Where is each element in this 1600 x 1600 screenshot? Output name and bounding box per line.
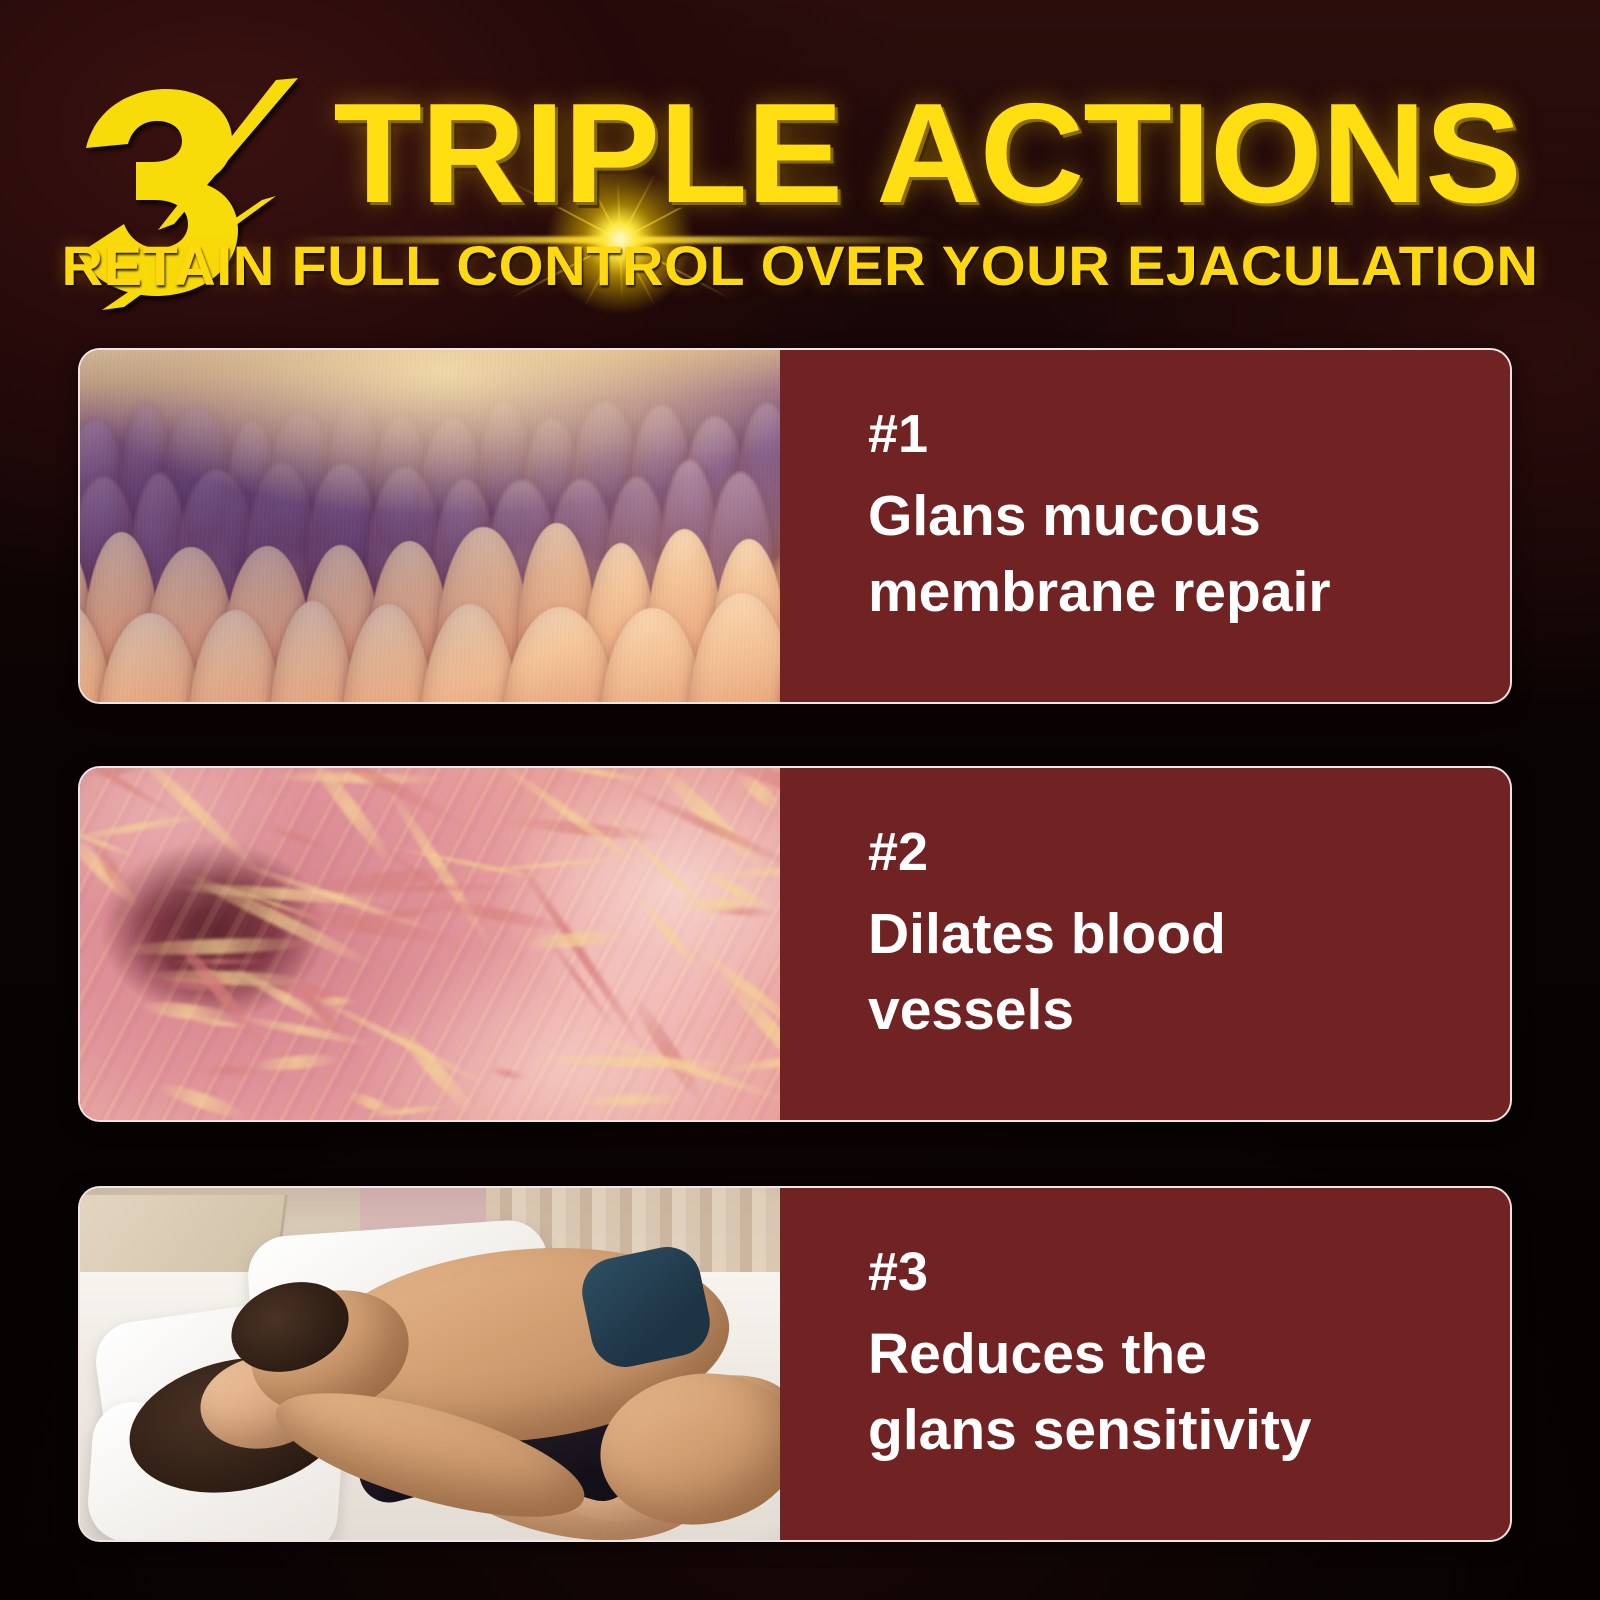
page-title: TRIPLE ACTIONS xyxy=(269,86,1585,221)
couple-photo xyxy=(80,1188,780,1540)
card-3-line-1: Reduces the xyxy=(868,1316,1488,1392)
header-banner: TRIPLE ACTIONS RETAIN FULL CONTROL OVER … xyxy=(0,0,1600,330)
card-2-text: Dilates blood vessels xyxy=(868,896,1488,1048)
card-2-badge: #2 xyxy=(868,822,1510,882)
card-1-text-panel: #1 Glans mucous membrane repair xyxy=(780,350,1510,702)
card-3-line-2: glans sensitivity xyxy=(868,1392,1488,1468)
card-2-line-2: vessels xyxy=(868,972,1488,1048)
photo-vignette xyxy=(80,1188,780,1540)
tissue-photo xyxy=(80,768,780,1120)
bedroom-illustration xyxy=(80,1188,780,1540)
card-1-badge: #1 xyxy=(868,404,1510,464)
villi-illustration xyxy=(80,350,780,702)
tissue-illustration xyxy=(80,768,780,1120)
card-3-text: Reduces the glans sensitivity xyxy=(868,1316,1488,1468)
card-2-line-1: Dilates blood xyxy=(868,896,1488,972)
villi-grain xyxy=(80,350,780,702)
card-3-text-panel: #3 Reduces the glans sensitivity xyxy=(780,1188,1510,1540)
action-card-1[interactable]: #1 Glans mucous membrane repair xyxy=(78,348,1512,704)
card-3-badge: #3 xyxy=(868,1242,1510,1302)
card-1-line-2: membrane repair xyxy=(868,554,1488,630)
page-subtitle: RETAIN FULL CONTROL OVER YOUR EJACULATIO… xyxy=(38,236,1562,296)
card-2-text-panel: #2 Dilates blood vessels xyxy=(780,768,1510,1120)
villi-photo xyxy=(80,350,780,702)
card-1-text: Glans mucous membrane repair xyxy=(868,478,1488,630)
card-1-line-1: Glans mucous xyxy=(868,478,1488,554)
action-card-2[interactable]: #2 Dilates blood vessels xyxy=(78,766,1512,1122)
action-card-3[interactable]: #3 Reduces the glans sensitivity xyxy=(78,1186,1512,1542)
infographic-root: TRIPLE ACTIONS RETAIN FULL CONTROL OVER … xyxy=(0,0,1600,1600)
tissue-fiber xyxy=(168,959,271,964)
